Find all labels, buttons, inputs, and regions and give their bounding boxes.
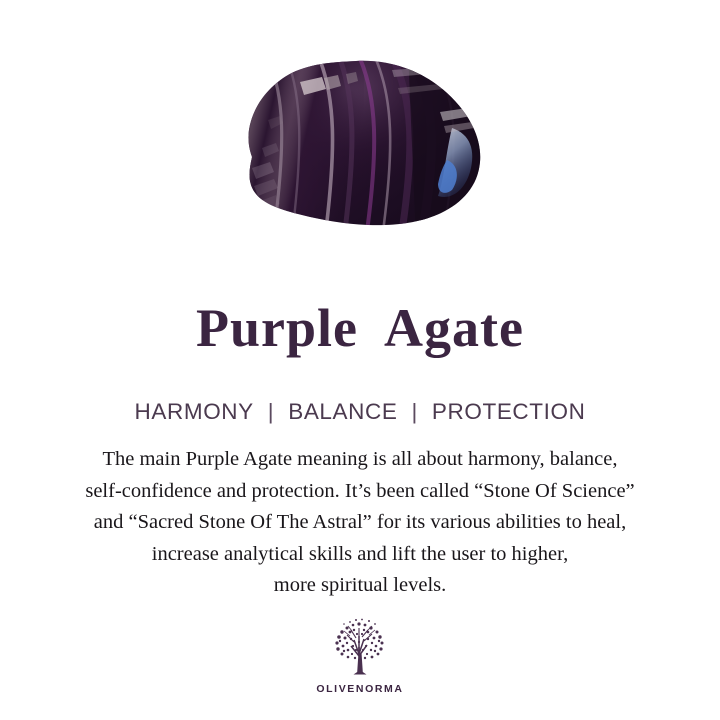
keyword-balance: BALANCE [286, 399, 399, 425]
description-paragraph: The main Purple Agate meaning is all abo… [0, 444, 720, 602]
description-line: self-confidence and protection. It’s bee… [0, 476, 720, 508]
keyword-separator: | [399, 399, 429, 425]
brand-name: OLIVENORMA [316, 683, 403, 695]
description-line: more spiritual levels. [0, 570, 720, 602]
description-line: increase analytical skills and lift the … [0, 539, 720, 571]
description-line: and “Sacred Stone Of The Astral” for its… [0, 507, 720, 539]
keyword-list: HARMONY | BALANCE | PROTECTION [0, 399, 720, 425]
tree-of-life-icon [323, 618, 397, 680]
stone-body [240, 50, 500, 250]
keyword-protection: PROTECTION [430, 399, 588, 425]
stone-image-container [0, 0, 720, 250]
keyword-harmony: HARMONY [133, 399, 256, 425]
purple-agate-stone-image [0, 0, 720, 250]
keyword-separator: | [256, 399, 286, 425]
description-line: The main Purple Agate meaning is all abo… [0, 444, 720, 476]
product-info-card: Purple Agate HARMONY | BALANCE | PROTECT… [0, 0, 720, 720]
brand-logo: OLIVENORMA [0, 618, 720, 695]
page-title: Purple Agate [0, 300, 720, 357]
